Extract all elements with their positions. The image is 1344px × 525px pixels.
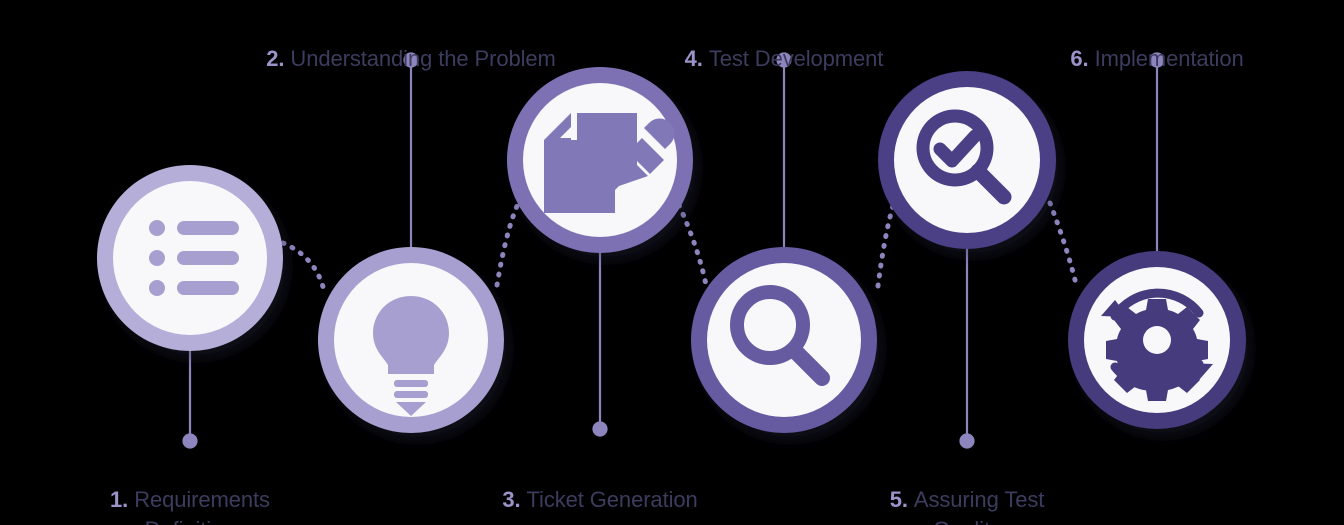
step-number-5: 5. (890, 487, 914, 512)
step-node-4[interactable] (691, 247, 877, 433)
stem-dot-3-end (594, 423, 607, 436)
connector-3-4 (679, 205, 707, 290)
step-node-5[interactable] (878, 71, 1056, 249)
connector-2-3 (497, 196, 522, 285)
connector-1-2 (283, 243, 325, 295)
step-5-disc (894, 87, 1040, 233)
connector-5-6 (1050, 203, 1077, 288)
connector-4-5 (878, 197, 896, 286)
step-text-2: Understanding the Problem (290, 46, 555, 71)
step-label-2: 2. Understanding the Problem (241, 14, 581, 74)
process-flow-infographic: 1. Requirements Definition 2. Understand… (0, 0, 1344, 525)
step-number-6: 6. (1070, 46, 1094, 71)
step-4-disc (707, 263, 861, 417)
step-label-1: 1. Requirements Definition (60, 455, 320, 525)
step-text-6: Implementation (1095, 46, 1244, 71)
step-text-1: Requirements Definition (134, 487, 270, 525)
diagram-canvas (0, 0, 1344, 525)
stem-dot-1-end (184, 435, 197, 448)
step-text-5: Assuring Test Quality (914, 487, 1044, 525)
step-number-4: 4. (685, 46, 709, 71)
step-text-4: Test Development (709, 46, 884, 71)
step-label-5: 5. Assuring Test Quality (837, 455, 1097, 525)
step-text-3: Ticket Generation (527, 487, 698, 512)
step-number-3: 3. (502, 487, 526, 512)
bulleted-list-icon (149, 220, 239, 296)
step-number-2: 2. (266, 46, 290, 71)
step-label-4: 4. Test Development (654, 14, 914, 74)
step-number-1: 1. (110, 487, 134, 512)
stem-dot-5-end (961, 435, 974, 448)
step-label-3: 3. Ticket Generation (470, 455, 730, 515)
step-label-6: 6. Implementation (1027, 14, 1287, 74)
